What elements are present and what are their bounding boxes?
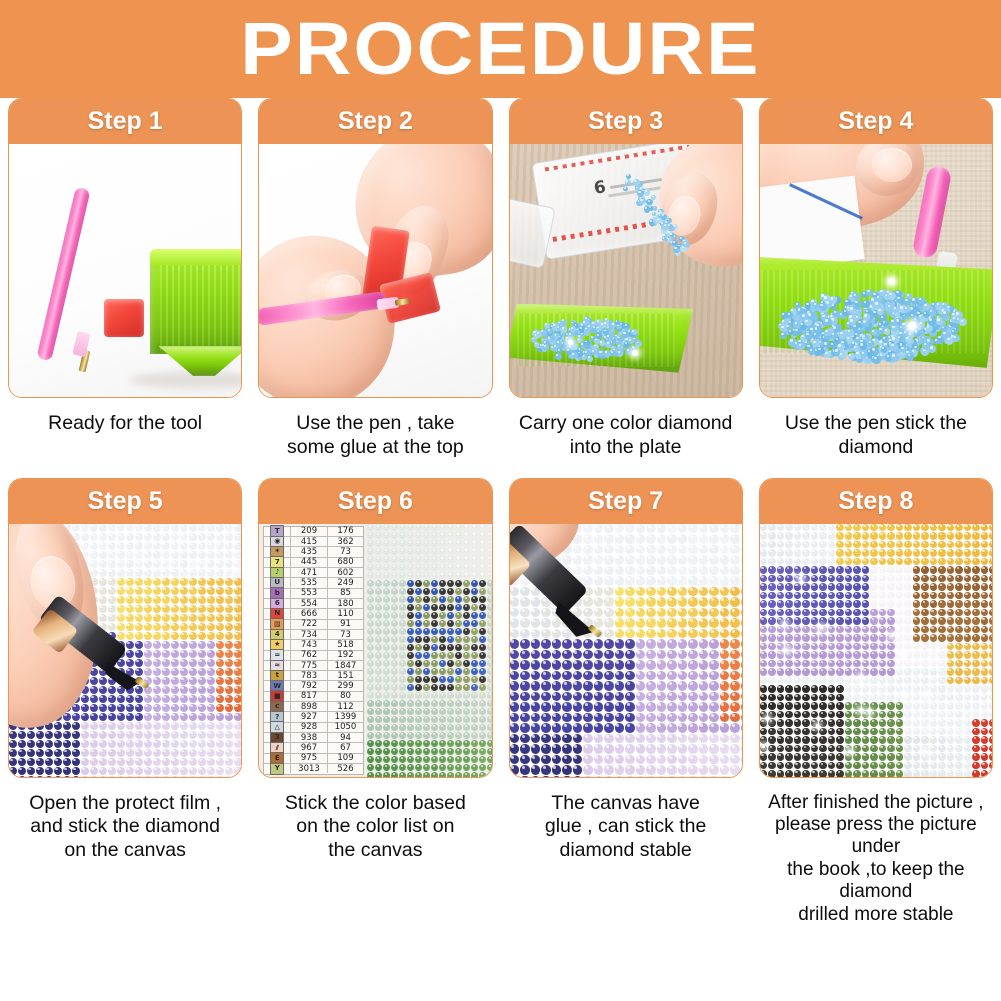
mosaic-bead bbox=[836, 643, 844, 651]
mosaic-bead bbox=[741, 597, 742, 607]
mosaic-bead bbox=[383, 636, 390, 643]
mosaic-bead bbox=[383, 764, 390, 771]
mosaic-bead bbox=[383, 708, 390, 715]
mosaic-bead bbox=[126, 587, 134, 595]
mosaic-bead bbox=[541, 702, 551, 712]
color-count-cell: 91 bbox=[328, 620, 364, 629]
mosaic-bead bbox=[667, 566, 677, 576]
mosaic-bead bbox=[207, 578, 215, 586]
mosaic-bead bbox=[90, 524, 98, 532]
mosaic-bead bbox=[189, 713, 197, 721]
mosaic-bead bbox=[615, 587, 625, 597]
mosaic-bead bbox=[225, 569, 233, 577]
mosaic-bead bbox=[391, 756, 398, 763]
mosaic-bead bbox=[225, 623, 233, 631]
mosaic-bead bbox=[678, 566, 688, 576]
mosaic-bead bbox=[9, 758, 17, 766]
mosaic-bead bbox=[836, 592, 844, 600]
mosaic-bead bbox=[439, 756, 446, 763]
mosaic-bead bbox=[625, 650, 635, 660]
step-header-5: Step 5 bbox=[9, 479, 241, 524]
mosaic-bead bbox=[171, 677, 179, 685]
mosaic-bead bbox=[785, 634, 793, 642]
mosaic-bead bbox=[720, 765, 730, 775]
mosaic-bead bbox=[913, 745, 921, 753]
mosaic-bead bbox=[981, 558, 989, 566]
mosaic-bead bbox=[921, 592, 929, 600]
mosaic-bead bbox=[439, 668, 446, 675]
diamond-bead bbox=[631, 329, 637, 335]
mosaic-bead bbox=[955, 668, 963, 676]
mosaic-bead bbox=[811, 745, 819, 753]
mosaic-bead bbox=[709, 555, 719, 565]
mosaic-bead bbox=[153, 551, 161, 559]
mosaic-bead bbox=[955, 719, 963, 727]
mosaic-bead bbox=[819, 770, 827, 777]
color-code-cell: 928 bbox=[291, 723, 328, 732]
mosaic-bead bbox=[720, 713, 730, 723]
mosaic-bead bbox=[836, 677, 844, 685]
mosaic-bead bbox=[447, 708, 454, 715]
mosaic-bead bbox=[938, 566, 946, 574]
mosaic-bead bbox=[625, 755, 635, 765]
mosaic-bead bbox=[964, 736, 972, 744]
mosaic-bead bbox=[126, 560, 134, 568]
mosaic-bead bbox=[667, 597, 677, 607]
mosaic-bead bbox=[853, 609, 861, 617]
mosaic-bead bbox=[383, 580, 390, 587]
mosaic-bead bbox=[657, 608, 667, 618]
mosaic-bead bbox=[709, 545, 719, 555]
diamond-bead bbox=[624, 323, 630, 329]
mosaic-bead bbox=[636, 576, 646, 586]
mosaic-bead bbox=[180, 560, 188, 568]
mosaic-bead bbox=[604, 776, 614, 777]
step-photo-6: T209176◉415362✶435737445680♪471602U53524… bbox=[259, 524, 491, 777]
mosaic-bead bbox=[785, 566, 793, 574]
step-header-3: Step 3 bbox=[510, 99, 742, 144]
mosaic-bead bbox=[904, 609, 912, 617]
mosaic-bead bbox=[853, 736, 861, 744]
mosaic-bead bbox=[463, 588, 470, 595]
mosaic-bead bbox=[594, 713, 604, 723]
mosaic-bead bbox=[81, 704, 89, 712]
mosaic-bead bbox=[699, 608, 709, 618]
mosaic-bead bbox=[510, 734, 520, 744]
mosaic-bead bbox=[90, 695, 98, 703]
mosaic-bead bbox=[431, 724, 438, 731]
mosaic-bead bbox=[819, 728, 827, 736]
mosaic-bead bbox=[777, 609, 785, 617]
mosaic-bead bbox=[198, 641, 206, 649]
mosaic-bead bbox=[981, 719, 989, 727]
mosaic-bead bbox=[144, 614, 152, 622]
mosaic-bead bbox=[657, 555, 667, 565]
mosaic-bead bbox=[811, 558, 819, 566]
mosaic-bead bbox=[853, 762, 861, 770]
mosaic-bead bbox=[431, 540, 438, 547]
mosaic-bead bbox=[531, 692, 541, 702]
mosaic-bead bbox=[811, 532, 819, 540]
mosaic-bead bbox=[981, 617, 989, 625]
mosaic-bead bbox=[415, 636, 422, 643]
mosaic-bead bbox=[216, 587, 224, 595]
step-photo-2 bbox=[259, 144, 491, 397]
mosaic-bead bbox=[730, 650, 740, 660]
mosaic-bead bbox=[819, 745, 827, 753]
mosaic-bead bbox=[625, 692, 635, 702]
mosaic-bead bbox=[709, 681, 719, 691]
mosaic-bead bbox=[972, 541, 980, 549]
mosaic-bead bbox=[625, 545, 635, 555]
mosaic-bead bbox=[90, 776, 98, 777]
mosaic-bead bbox=[981, 583, 989, 591]
mosaic-bead bbox=[479, 572, 486, 579]
mosaic-bead bbox=[391, 708, 398, 715]
mosaic-bead bbox=[431, 620, 438, 627]
mosaic-bead bbox=[955, 524, 963, 532]
mosaic-bead bbox=[479, 604, 486, 611]
mosaic-bead bbox=[947, 575, 955, 583]
mosaic-bead bbox=[447, 636, 454, 643]
mosaic-bead bbox=[720, 639, 730, 649]
mosaic-bead bbox=[836, 583, 844, 591]
mosaic-bead bbox=[853, 643, 861, 651]
mosaic-bead bbox=[383, 628, 390, 635]
mosaic-bead bbox=[887, 651, 895, 659]
mosaic-bead bbox=[947, 524, 955, 532]
mosaic-bead bbox=[819, 600, 827, 608]
mosaic-bead bbox=[730, 776, 740, 777]
mosaic-bead bbox=[921, 660, 929, 668]
mosaic-bead bbox=[870, 532, 878, 540]
mosaic-bead bbox=[391, 636, 398, 643]
mosaic-bead bbox=[802, 702, 810, 710]
mosaic-bead bbox=[785, 524, 793, 532]
mosaic-bead bbox=[383, 756, 390, 763]
mosaic-bead bbox=[981, 575, 989, 583]
mosaic-bead bbox=[117, 560, 125, 568]
color-code-cell: 775 bbox=[291, 661, 328, 670]
mosaic-bead bbox=[896, 702, 904, 710]
mosaic-bead bbox=[594, 681, 604, 691]
mosaic-bead bbox=[646, 650, 656, 660]
mosaic-bead bbox=[594, 692, 604, 702]
mosaic-bead bbox=[972, 694, 980, 702]
mosaic-bead bbox=[930, 549, 938, 557]
mosaic-bead bbox=[709, 597, 719, 607]
mosaic-bead bbox=[471, 564, 478, 571]
mosaic-bead bbox=[887, 583, 895, 591]
mosaic-bead bbox=[383, 652, 390, 659]
diamond-bead bbox=[781, 319, 788, 326]
mosaic-bead bbox=[407, 644, 414, 651]
mosaic-bead bbox=[126, 722, 134, 730]
mosaic-bead bbox=[760, 762, 768, 770]
mosaic-bead bbox=[947, 753, 955, 761]
mosaic-bead bbox=[819, 753, 827, 761]
mosaic-bead bbox=[117, 605, 125, 613]
sparkle bbox=[888, 278, 895, 285]
mosaic-bead bbox=[913, 592, 921, 600]
color-count-cell: 680 bbox=[328, 558, 364, 567]
mosaic-bead bbox=[930, 583, 938, 591]
mosaic-bead bbox=[99, 713, 107, 721]
mosaic-bead bbox=[646, 660, 656, 670]
mosaic-bead bbox=[720, 555, 730, 565]
mosaic-bead bbox=[487, 740, 491, 747]
mosaic-bead bbox=[171, 749, 179, 757]
mosaic-bead bbox=[699, 702, 709, 712]
mosaic-bead bbox=[117, 632, 125, 640]
mosaic-bead bbox=[108, 596, 116, 604]
mosaic-bead bbox=[913, 770, 921, 777]
mosaic-bead bbox=[904, 617, 912, 625]
mosaic-bead bbox=[930, 668, 938, 676]
mosaic-bead bbox=[162, 758, 170, 766]
mosaic-bead bbox=[375, 692, 382, 699]
diamond-bead bbox=[895, 290, 902, 297]
diamond-bead bbox=[812, 339, 820, 347]
mosaic-bead bbox=[180, 524, 188, 532]
mosaic-bead bbox=[879, 575, 887, 583]
mosaic-bead bbox=[81, 776, 89, 777]
mosaic-bead bbox=[234, 542, 241, 550]
mosaic-bead bbox=[562, 755, 572, 765]
mosaic-bead bbox=[615, 597, 625, 607]
mosaic-bead bbox=[447, 724, 454, 731]
mosaic-bead bbox=[964, 524, 972, 532]
mosaic-bead bbox=[989, 711, 992, 719]
mosaic-bead bbox=[198, 533, 206, 541]
mosaic-bead bbox=[431, 676, 438, 683]
mosaic-bead bbox=[870, 685, 878, 693]
color-count-cell: 151 bbox=[328, 671, 364, 680]
mosaic-bead bbox=[135, 749, 143, 757]
mosaic-bead bbox=[938, 583, 946, 591]
color-chart-table: T209176◉415362✶435737445680♪471602U53524… bbox=[263, 526, 364, 775]
mosaic-bead bbox=[447, 532, 454, 539]
mosaic-bead bbox=[439, 660, 446, 667]
mosaic-bead bbox=[144, 605, 152, 613]
mosaic-bead bbox=[887, 745, 895, 753]
mosaic-bead bbox=[887, 532, 895, 540]
mosaic-bead bbox=[720, 524, 730, 534]
mosaic-bead bbox=[777, 719, 785, 727]
mosaic-bead bbox=[479, 628, 486, 635]
mosaic-bead bbox=[896, 745, 904, 753]
mosaic-bead bbox=[981, 668, 989, 676]
mosaic-bead bbox=[879, 745, 887, 753]
mosaic-bead bbox=[90, 560, 98, 568]
mosaic-bead bbox=[768, 566, 776, 574]
mosaic-bead bbox=[367, 628, 374, 635]
mosaic-bead bbox=[930, 532, 938, 540]
mosaic-bead bbox=[72, 722, 80, 730]
mosaic-bead bbox=[367, 636, 374, 643]
mosaic-bead bbox=[688, 713, 698, 723]
mosaic-bead bbox=[730, 618, 740, 628]
mosaic-bead bbox=[811, 524, 819, 532]
mosaic-bead bbox=[604, 755, 614, 765]
mosaic-bead bbox=[636, 765, 646, 775]
mosaic-bead bbox=[879, 694, 887, 702]
mosaic-bead bbox=[938, 532, 946, 540]
mosaic-bead bbox=[415, 684, 422, 691]
mosaic-bead bbox=[667, 618, 677, 628]
mosaic-bead bbox=[913, 694, 921, 702]
mosaic-bead bbox=[531, 597, 541, 607]
diamond-bead bbox=[598, 350, 605, 357]
mosaic-bead bbox=[887, 592, 895, 600]
mosaic-bead bbox=[741, 671, 742, 681]
mosaic-bead bbox=[853, 541, 861, 549]
mosaic-bead bbox=[520, 681, 530, 691]
mosaic-bead bbox=[768, 685, 776, 693]
mosaic-bead bbox=[972, 702, 980, 710]
mosaic-bead bbox=[108, 524, 116, 532]
mosaic-bead bbox=[144, 731, 152, 739]
mosaic-bead bbox=[879, 626, 887, 634]
mosaic-bead bbox=[162, 560, 170, 568]
mosaic-bead bbox=[407, 708, 414, 715]
mosaic-bead bbox=[487, 708, 491, 715]
mosaic-bead bbox=[367, 724, 374, 731]
mosaic-bead bbox=[207, 533, 215, 541]
mosaic-bead bbox=[594, 524, 604, 534]
mosaic-bead bbox=[768, 524, 776, 532]
mosaic-bead bbox=[938, 592, 946, 600]
mosaic-bead bbox=[423, 684, 430, 691]
step-cell-3: Step 3 6 bbox=[501, 98, 751, 460]
mosaic-bead bbox=[625, 618, 635, 628]
mosaic-bead bbox=[896, 592, 904, 600]
mosaic-bead bbox=[375, 540, 382, 547]
mosaic-bead bbox=[375, 676, 382, 683]
mosaic-bead bbox=[162, 614, 170, 622]
mosaic-bead bbox=[819, 702, 827, 710]
mosaic-bead bbox=[171, 722, 179, 730]
mosaic-bead bbox=[828, 643, 836, 651]
mosaic-bead bbox=[879, 592, 887, 600]
mosaic-bead bbox=[981, 626, 989, 634]
mosaic-bead bbox=[741, 566, 742, 576]
step-header-label: Step 8 bbox=[838, 487, 913, 516]
mosaic-bead bbox=[625, 576, 635, 586]
step-caption-2: Use the pen , take some glue at the top bbox=[258, 398, 492, 460]
mosaic-bead bbox=[904, 626, 912, 634]
mosaic-bead bbox=[99, 551, 107, 559]
mosaic-bead bbox=[108, 542, 116, 550]
mosaic-bead bbox=[198, 740, 206, 748]
mosaic-bead bbox=[947, 549, 955, 557]
mosaic-bead bbox=[879, 558, 887, 566]
mosaic-bead bbox=[688, 650, 698, 660]
mosaic-bead bbox=[399, 580, 406, 587]
mosaic-bead bbox=[117, 596, 125, 604]
mosaic-bead bbox=[487, 548, 491, 555]
mosaic-bead bbox=[541, 765, 551, 775]
mosaic-bead bbox=[730, 524, 740, 534]
mosaic-bead bbox=[375, 604, 382, 611]
mosaic-bead bbox=[135, 713, 143, 721]
mosaic-bead bbox=[760, 736, 768, 744]
mosaic-bead bbox=[375, 636, 382, 643]
mosaic-bead bbox=[423, 556, 430, 563]
mosaic-bead bbox=[688, 692, 698, 702]
diamond-bead bbox=[557, 348, 563, 354]
diamond-bead bbox=[847, 329, 854, 336]
mosaic-bead bbox=[667, 545, 677, 555]
mosaic-bead bbox=[870, 702, 878, 710]
mosaic-bead bbox=[819, 634, 827, 642]
mosaic-bead bbox=[688, 576, 698, 586]
color-swatch-cell: ◉ bbox=[264, 537, 291, 546]
mosaic-bead bbox=[657, 765, 667, 775]
mosaic-bead bbox=[479, 580, 486, 587]
mosaic-bead bbox=[423, 596, 430, 603]
mosaic-bead bbox=[126, 767, 134, 775]
mosaic-bead bbox=[636, 734, 646, 744]
mosaic-bead bbox=[108, 587, 116, 595]
mosaic-bead bbox=[367, 604, 374, 611]
mosaic-bead bbox=[760, 600, 768, 608]
mosaic-bead bbox=[760, 660, 768, 668]
mosaic-bead bbox=[153, 722, 161, 730]
mosaic-bead bbox=[741, 755, 742, 765]
mosaic-bead bbox=[785, 583, 793, 591]
mosaic-bead bbox=[667, 587, 677, 597]
mosaic-bead bbox=[845, 566, 853, 574]
step-caption-6: Stick the color based on the color list … bbox=[258, 778, 492, 863]
mosaic-bead bbox=[870, 643, 878, 651]
mosaic-bead bbox=[989, 558, 992, 566]
mosaic-bead bbox=[541, 681, 551, 691]
mosaic-bead bbox=[108, 560, 116, 568]
mosaic-bead bbox=[463, 580, 470, 587]
step-header-label: Step 1 bbox=[88, 107, 163, 136]
mosaic-bead bbox=[144, 533, 152, 541]
mosaic-bead bbox=[828, 558, 836, 566]
mosaic-bead bbox=[657, 566, 667, 576]
mosaic-bead bbox=[583, 755, 593, 765]
sparkle bbox=[568, 340, 573, 345]
mosaic-bead bbox=[768, 651, 776, 659]
mosaic-bead bbox=[541, 723, 551, 733]
mosaic-bead bbox=[777, 643, 785, 651]
mosaic-bead bbox=[198, 722, 206, 730]
mosaic-bead bbox=[18, 740, 26, 748]
mosaic-bead bbox=[447, 684, 454, 691]
mosaic-bead bbox=[709, 629, 719, 639]
mosaic-bead bbox=[794, 651, 802, 659]
mosaic-bead bbox=[198, 587, 206, 595]
mosaic-bead bbox=[479, 708, 486, 715]
mosaic-bead bbox=[777, 634, 785, 642]
mosaic-bead bbox=[520, 629, 530, 639]
mosaic-bead bbox=[234, 704, 241, 712]
mosaic-bead bbox=[423, 756, 430, 763]
color-swatch-cell: ★ bbox=[264, 640, 291, 649]
mosaic-bead bbox=[487, 684, 491, 691]
mosaic-bead bbox=[964, 583, 972, 591]
mosaic-bead bbox=[189, 668, 197, 676]
mosaic-bead bbox=[117, 542, 125, 550]
mosaic-bead bbox=[431, 572, 438, 579]
mosaic-bead bbox=[636, 660, 646, 670]
mosaic-bead bbox=[688, 744, 698, 754]
mosaic-bead bbox=[870, 634, 878, 642]
